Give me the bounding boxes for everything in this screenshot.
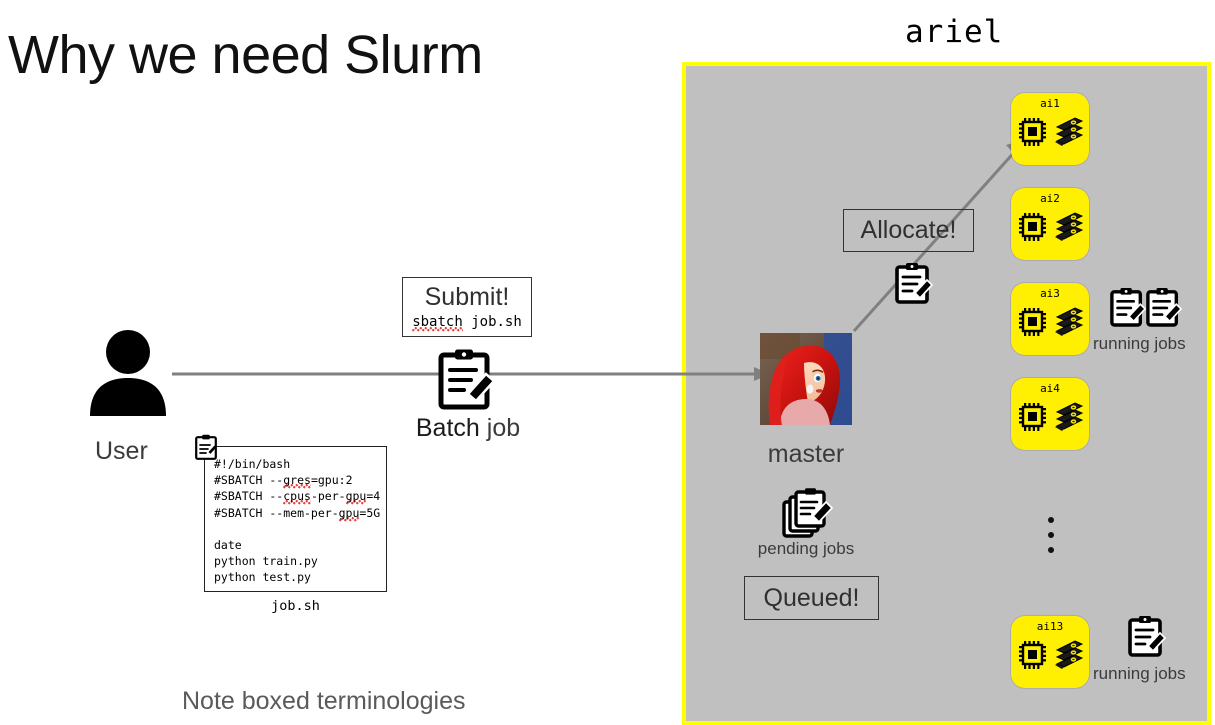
cpu-chip-icon — [1018, 212, 1048, 242]
allocate-label: Allocate! — [861, 217, 957, 243]
node-card-ai2[interactable]: ai2 — [1011, 188, 1089, 260]
cpu-chip-icon — [1018, 640, 1048, 670]
node-card-ai4[interactable]: ai4 — [1011, 378, 1089, 450]
node-card-ai1[interactable]: ai1 — [1011, 93, 1089, 165]
submit-command: sbatch job.sh — [412, 314, 522, 330]
memory-modules-icon — [1051, 398, 1083, 436]
script-line-7: python test.py — [214, 570, 311, 584]
cpu-chip-icon — [1018, 402, 1048, 432]
job-script-box: #!/bin/bash #SBATCH --gres=gpu:2 #SBATCH… — [204, 446, 387, 592]
job-script-code: #!/bin/bash #SBATCH --gres=gpu:2 #SBATCH… — [214, 456, 382, 586]
script-line-0: #!/bin/bash — [214, 457, 290, 471]
memory-modules-icon — [1051, 636, 1083, 674]
user-label: User — [95, 437, 148, 466]
node-icons-ai4 — [1011, 398, 1089, 436]
script-line-5: date — [214, 538, 242, 552]
cpu-chip-icon — [1018, 117, 1048, 147]
master-label: master — [740, 440, 872, 469]
running-jobs-label-ai3: running jobs — [1093, 334, 1186, 354]
running-job-clipboard-ai3-1 — [1110, 285, 1146, 329]
script-line-3: #SBATCH --mem-per-gpu=5G — [214, 506, 380, 524]
clipboard-pencil-icon — [438, 348, 496, 410]
node-label-ai4: ai4 — [1011, 382, 1089, 395]
running-jobs-label-ai13: running jobs — [1093, 664, 1186, 684]
memory-modules-icon — [1051, 113, 1083, 151]
node-card-ai3[interactable]: ai3 — [1011, 283, 1089, 355]
submit-title: Submit! — [425, 284, 510, 310]
node-icons-ai3 — [1011, 303, 1089, 341]
queued-label: Queued! — [764, 585, 860, 611]
cluster-name-label: ariel — [905, 14, 1003, 50]
batch-job-label-rest: job — [480, 414, 520, 442]
avatar-master-ariel — [760, 333, 852, 425]
queued-terminology-box: Queued! — [744, 576, 879, 620]
memory-modules-icon — [1051, 303, 1083, 341]
node-icons-ai2 — [1011, 208, 1089, 246]
node-icons-ai13 — [1011, 636, 1089, 674]
pending-jobs-label: pending jobs — [726, 539, 886, 559]
node-label-ai3: ai3 — [1011, 287, 1089, 300]
running-job-clipboard-ai13-1 — [1128, 613, 1166, 659]
node-label-ai2: ai2 — [1011, 192, 1089, 205]
script-line-6: python train.py — [214, 554, 318, 568]
person-icon — [88, 330, 168, 416]
node-card-ai13[interactable]: ai13 — [1011, 616, 1089, 688]
node-icons-ai1 — [1011, 113, 1089, 151]
clipboard-stack-icon — [782, 486, 836, 540]
vertical-ellipsis-icon — [1044, 517, 1058, 559]
job-script-caption: job.sh — [204, 598, 387, 614]
clipboard-icon — [195, 434, 217, 460]
batch-job-label-bold: Batch — [416, 414, 480, 442]
running-job-clipboard-ai3-2 — [1146, 285, 1182, 329]
footnote-text: Note boxed terminologies — [182, 687, 466, 716]
node-label-ai1: ai1 — [1011, 97, 1089, 110]
submit-terminology-box: Submit! sbatch job.sh — [402, 277, 532, 337]
allocate-terminology-box: Allocate! — [843, 209, 974, 252]
cpu-chip-icon — [1018, 307, 1048, 337]
memory-modules-icon — [1051, 208, 1083, 246]
clipboard-pencil-icon-allocate — [895, 262, 933, 304]
node-label-ai13: ai13 — [1011, 620, 1089, 633]
page-title: Why we need Slurm — [8, 24, 483, 86]
batch-job-label: Batch job — [408, 414, 528, 443]
